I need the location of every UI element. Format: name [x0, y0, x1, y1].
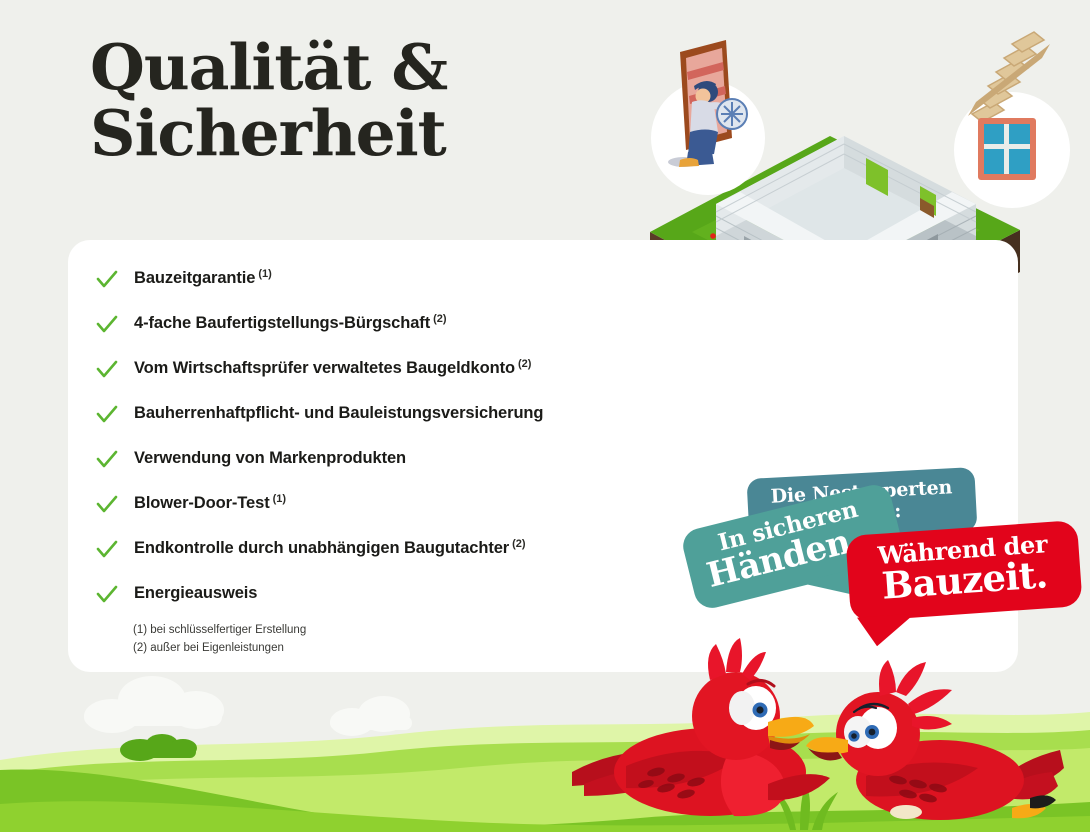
- checklist-item-footnote-ref: (1): [258, 268, 271, 280]
- checklist-item-label: 4-fache Baufertigstellungs-Bürgschaft: [134, 313, 430, 334]
- cloud-icon: [84, 676, 224, 733]
- bubble-build-time-line2: Bauzeit.: [860, 555, 1070, 607]
- bird-right: [806, 660, 1064, 820]
- check-icon: [96, 313, 134, 335]
- infographic-canvas: Qualität & Sicherheit Bauzeitgarantie (1…: [0, 0, 1090, 832]
- checklist-item: Endkontrolle durch unabhängigen Baugutac…: [96, 538, 656, 583]
- checklist-item: Blower-Door-Test (1): [96, 493, 656, 538]
- staircase-window-badge: [954, 32, 1070, 208]
- checklist-item: Bauzeitgarantie (1): [96, 268, 656, 313]
- checklist-item-footnote-ref: (2): [433, 313, 446, 325]
- window-icon: [978, 118, 1036, 180]
- check-icon: [96, 268, 134, 290]
- worker-insulation-badge: [651, 40, 765, 195]
- check-icon: [96, 358, 134, 380]
- footnote-2: (2) außer bei Eigenleistungen: [133, 640, 306, 658]
- check-icon: [96, 538, 134, 560]
- bird-characters: [560, 622, 1090, 832]
- checklist-item: Vom Wirtschaftsprüfer verwaltetes Baugel…: [96, 358, 656, 403]
- checklist-item-label: Blower-Door-Test: [134, 493, 270, 514]
- checklist-item-footnote-ref: (2): [512, 538, 525, 550]
- checklist-item-footnote-ref: (1): [273, 493, 286, 505]
- checklist-item: Bauherrenhaftpflicht- und Bauleistungsve…: [96, 403, 656, 448]
- checklist-item-label: Verwendung von Markenprodukten: [134, 448, 406, 469]
- checklist-item-label: Vom Wirtschaftsprüfer verwaltetes Baugel…: [134, 358, 515, 379]
- page-title: Qualität & Sicherheit: [90, 34, 447, 166]
- check-icon: [96, 403, 134, 425]
- checklist-item-footnote-ref: (2): [518, 358, 531, 370]
- cloud-icon: [330, 696, 412, 736]
- bird-left: [572, 638, 830, 816]
- check-icon: [96, 448, 134, 470]
- quality-checklist: Bauzeitgarantie (1) 4-fache Baufertigste…: [96, 268, 656, 628]
- checklist-item-label: Energieausweis: [134, 583, 257, 604]
- check-icon: [96, 583, 134, 605]
- checklist-item: 4-fache Baufertigstellungs-Bürgschaft (2…: [96, 313, 656, 358]
- checklist-item-label: Bauherrenhaftpflicht- und Bauleistungsve…: [134, 403, 543, 424]
- checklist-item-label: Bauzeitgarantie: [134, 268, 255, 289]
- speech-bubble-build-time: Während der Bauzeit.: [845, 520, 1082, 622]
- footnote-1: (1) bei schlüsselfertiger Erstellung: [133, 622, 306, 640]
- checklist-item: Verwendung von Markenprodukten: [96, 448, 656, 493]
- check-icon: [96, 493, 134, 515]
- checklist-item-label: Endkontrolle durch unabhängigen Baugutac…: [134, 538, 509, 559]
- footnotes: (1) bei schlüsselfertiger Erstellung (2)…: [133, 622, 306, 658]
- bush-icon: [120, 734, 197, 761]
